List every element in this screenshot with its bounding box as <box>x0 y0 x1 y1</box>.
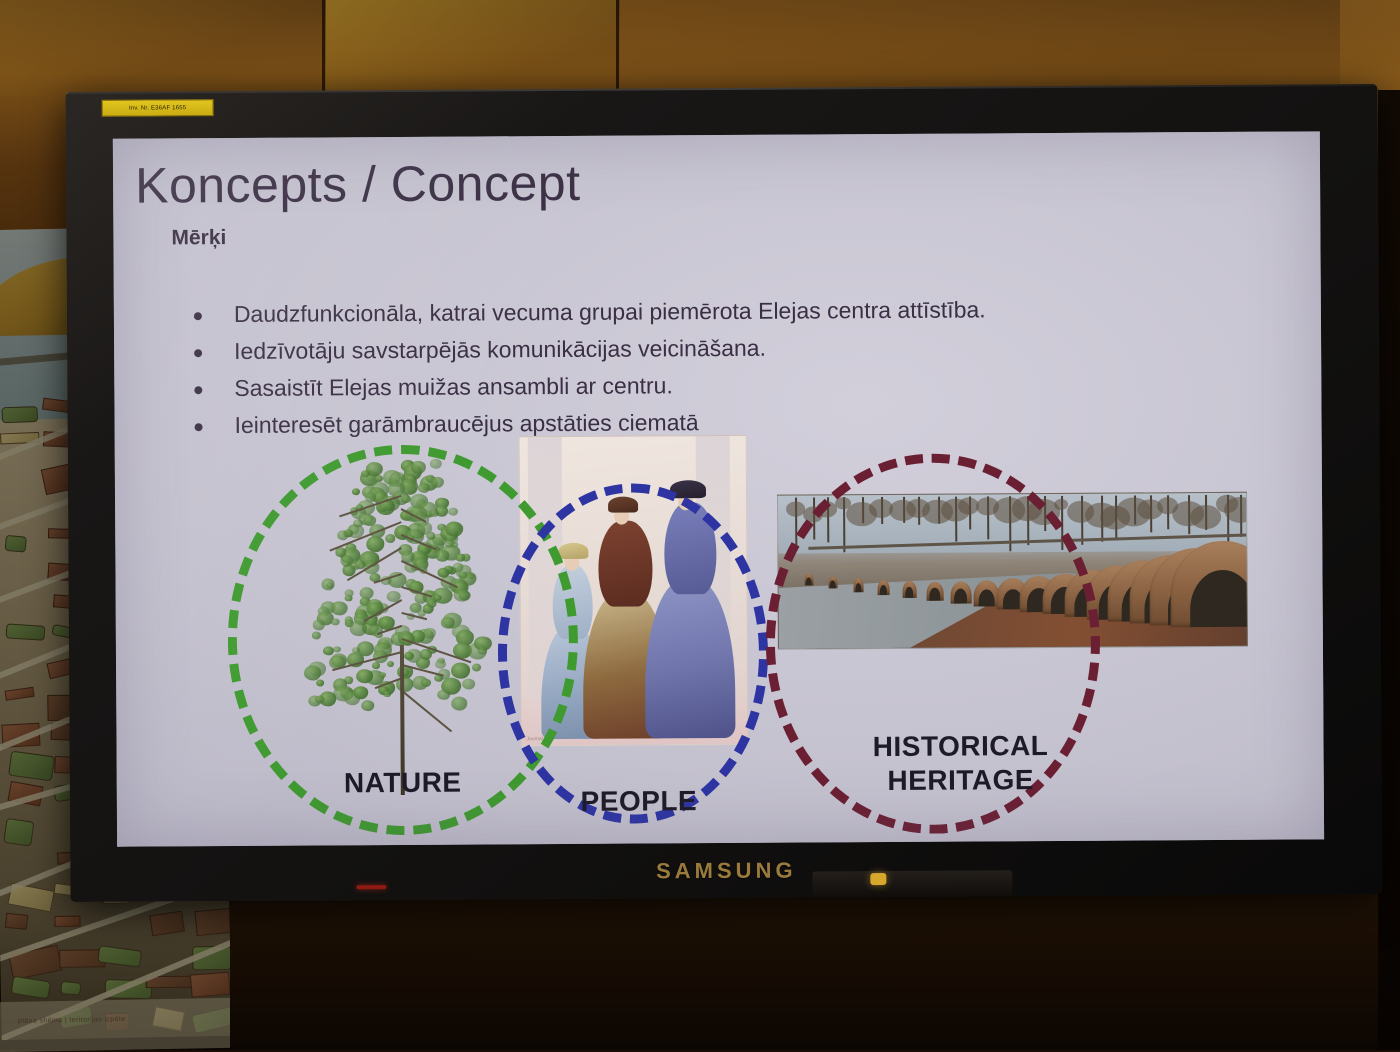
venn-label-people: PEOPLE <box>549 785 729 818</box>
slide-subtitle: Mērķi <box>171 226 226 250</box>
bullet-item: Sasaistīt Elejas muižas ansambli ar cent… <box>172 366 1272 406</box>
wall-panel-center <box>326 0 616 96</box>
photo-tree-crown <box>786 502 804 517</box>
poster-bottom-area <box>0 998 234 1052</box>
samsung-brand-logo: SAMSUNG <box>70 854 1382 888</box>
right-dark-area <box>1378 90 1400 1050</box>
poster-building-block <box>8 751 55 782</box>
slide-title: Koncepts / Concept <box>135 154 581 215</box>
wall-panel-seam <box>616 0 619 96</box>
power-indicator-led <box>356 885 386 889</box>
poster-building-block <box>149 911 185 936</box>
poster-building-block <box>5 623 45 640</box>
venn-label-heritage: HISTORICAL HERITAGE <box>830 729 1090 799</box>
poster-building-block <box>2 406 39 424</box>
poster-building-block <box>60 981 81 995</box>
venn-diagram: Journal NATURE PEOPLE HIST <box>115 431 1324 846</box>
poster-building-block <box>55 916 81 927</box>
poster-building-block <box>5 913 28 931</box>
venn-label-nature: NATURE <box>313 766 493 799</box>
inventory-sticker: Inv. Nr. E36AF 1655 <box>102 99 214 117</box>
wall-panel-left <box>0 0 320 96</box>
presentation-slide: Koncepts / Concept Mērķi Daudzfunkcionāl… <box>113 131 1324 846</box>
poster-building-block <box>11 975 52 999</box>
poster-building-block <box>195 907 232 937</box>
bullet-item: Iedzīvotāju savstarpējās komunikācijas v… <box>172 329 1272 369</box>
poster-building-block <box>4 534 27 552</box>
bullet-item: Daudzfunkcionāla, katrai vecuma grupai p… <box>172 292 1272 332</box>
wall-panel-seam <box>322 0 325 96</box>
monitor-screen[interactable]: Koncepts / Concept Mērķi Daudzfunkcionāl… <box>113 131 1324 846</box>
venn-circle-people <box>497 483 769 825</box>
arch-opening <box>1190 570 1248 627</box>
poster-building-block <box>5 687 35 701</box>
poster-building-block <box>190 972 230 998</box>
poster-building-block <box>3 817 34 846</box>
soundbar-device <box>812 870 1012 897</box>
wall-panel-right <box>620 0 1400 96</box>
objectives-bullet-list: Daudzfunkcionāla, katrai vecuma grupai p… <box>172 292 1273 447</box>
samsung-monitor: Inv. Nr. E36AF 1655 Koncepts / Concept M… <box>66 84 1383 902</box>
desk-surface <box>230 880 1400 1050</box>
amber-indicator-light <box>870 873 886 885</box>
